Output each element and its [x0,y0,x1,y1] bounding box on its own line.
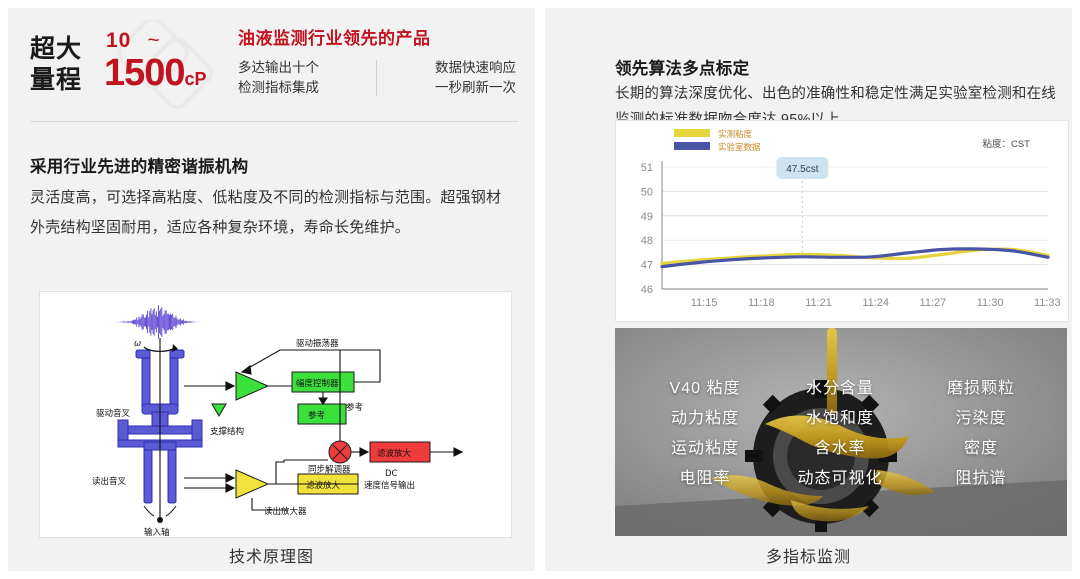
left-subtitle: 采用行业先进的精密谐振机构 [30,153,248,177]
label-support-structure: 支撑结构 [210,426,244,437]
range-min-row: 10~ [104,30,222,52]
overlay-c2-item-2: 含水率 [775,434,905,464]
chart-y-tick: 46 [641,284,653,296]
spec-b-line2: 一秒刷新一次 [397,78,516,98]
chart-unit-label: 粘度：CST [982,138,1030,150]
chart-x-tick: 11:24 [862,297,889,309]
right-title: 领先算法多点标定 [615,55,749,79]
range-min: 10 [106,29,131,52]
left-header-title-line2: 量程 [30,65,104,96]
label-input-shaft: 输入轴 [144,527,170,537]
label-dc-line2: 速度信号输出 [364,480,415,491]
chart-y-tick: 51 [641,162,653,174]
slogan: 油液监测行业领先的产品 [238,28,520,50]
header-rule [30,121,518,122]
left-header-right: 油液监测行业领先的产品 多达输出十个 检测指标集成 数据快速响应 一秒刷新一次 [222,24,520,98]
right-figure-caption: 多指标监测 [545,543,1072,567]
overlay-c1-item-0: V40 粘度 [649,374,761,404]
chart-legend-label: 实测粘度 [718,129,753,139]
label-amplitude-controller: 幅度控制器 [296,378,339,389]
spec-column-a: 多达输出十个 检测指标集成 [238,58,370,98]
chart-x-tick: 11:27 [920,297,947,309]
multi-index-photo: V40 粘度 动力粘度 运动粘度 电阻率 水分含量 水饱和度 含水率 动态可视化… [615,328,1067,536]
overlay-c3-item-2: 密度 [925,434,1037,464]
viscosity-line-chart: 46474849505111:1511:1811:2111:2411:2711:… [615,120,1069,322]
left-header-title: 超大 量程 [30,24,104,96]
label-reference-box: 参考 [308,410,325,421]
range-max-row: 1500cP [104,52,222,100]
label-drive-tuning-fork: 驱动音叉 [96,408,131,419]
overlay-c1-item-1: 动力粘度 [649,404,761,434]
chart-legend-swatch [674,129,710,137]
overlay-column-2: 水分含量 水饱和度 含水率 动态可视化 [775,374,905,494]
chart-x-tick: 11:33 [1034,297,1061,309]
spec-columns: 多达输出十个 检测指标集成 数据快速响应 一秒刷新一次 [238,58,520,98]
spec-a-line2: 检测指标集成 [238,78,370,98]
chart-y-tick: 50 [641,186,653,198]
label-filter-amp-top: 滤波放大 [377,448,412,459]
overlay-c3-item-1: 污染度 [925,404,1037,434]
left-feature-panel: 超大 量程 10~ 1500cP 油液监测 [8,8,535,571]
label-filter-amp-bottom: 滤波放大 [306,480,341,491]
chart-y-tick: 48 [641,235,653,247]
chart-legend-label: 实验室数据 [718,142,761,152]
overlay-c1-item-3: 电阻率 [649,464,761,494]
overlay-c3-item-3: 阻抗谱 [925,464,1037,494]
label-sync-demodulator: 同步解调器 [308,464,351,475]
chart-x-tick: 11:21 [805,297,832,309]
left-header-title-line1: 超大 [30,34,104,65]
overlay-column-3: 磨损颗粒 污染度 密度 阻抗谱 [925,374,1037,494]
right-feature-panel: 领先算法多点标定 长期的算法深度优化、出色的准确性和稳定性满足实验室检测和在线监… [545,8,1072,571]
page-root: 超大 量程 10~ 1500cP 油液监测 [0,0,1080,579]
chart-x-tick: 11:30 [977,297,1004,309]
range-block: 10~ 1500cP [104,24,222,100]
label-omega: ω [134,339,141,349]
spec-divider [376,60,377,96]
range-unit: cP [185,69,207,89]
chart-x-tick: 11:18 [748,297,775,309]
chart-x-tick: 11:15 [691,297,718,309]
left-figure-caption: 技术原理图 [8,543,535,567]
overlay-c2-item-1: 水饱和度 [775,404,905,434]
overlay-column-1: V40 粘度 动力粘度 运动粘度 电阻率 [649,374,761,494]
chart-legend-swatch [674,142,710,150]
left-body-text: 灵活度高，可选择高粘度、低粘度及不同的检测指标与范围。超强钢材外壳结构坚固耐用，… [30,183,506,243]
range-tilde: ~ [131,29,160,52]
sync-demodulator-shape [329,441,351,463]
technical-diagram: 驱动振荡器 驱动音叉 幅度控制器 参考 参考 同步解调器 滤波放大 DC 速度信… [39,291,512,538]
chart-tooltip-label: 47.5cst [786,164,818,175]
overlay-c3-item-0: 磨损颗粒 [925,374,1037,404]
chart-y-tick: 47 [641,260,653,272]
label-readout-tuning-fork: 读出音叉 [92,476,127,487]
spec-column-b: 数据快速响应 一秒刷新一次 [397,58,520,98]
label-readout-amplifier: 读出放大器 [264,506,307,517]
technical-diagram-svg: 驱动振荡器 驱动音叉 幅度控制器 参考 参考 同步解调器 滤波放大 DC 速度信… [40,292,511,537]
chart-y-tick: 49 [641,211,653,223]
range-max: 1500 [104,52,185,94]
viscosity-line-chart-svg: 46474849505111:1511:1811:2111:2411:2711:… [616,121,1068,321]
overlay-c2-item-0: 水分含量 [775,374,905,404]
label-reference-line: 参考 [346,402,363,413]
overlay-c2-item-3: 动态可视化 [775,464,905,494]
spec-b-line1: 数据快速响应 [397,58,516,78]
label-dc-line1: DC [385,469,398,479]
overlay-c1-item-2: 运动粘度 [649,434,761,464]
spec-a-line1: 多达输出十个 [238,58,370,78]
label-drive-oscillator: 驱动振荡器 [296,338,339,349]
left-header: 超大 量程 10~ 1500cP 油液监测 [30,24,520,112]
